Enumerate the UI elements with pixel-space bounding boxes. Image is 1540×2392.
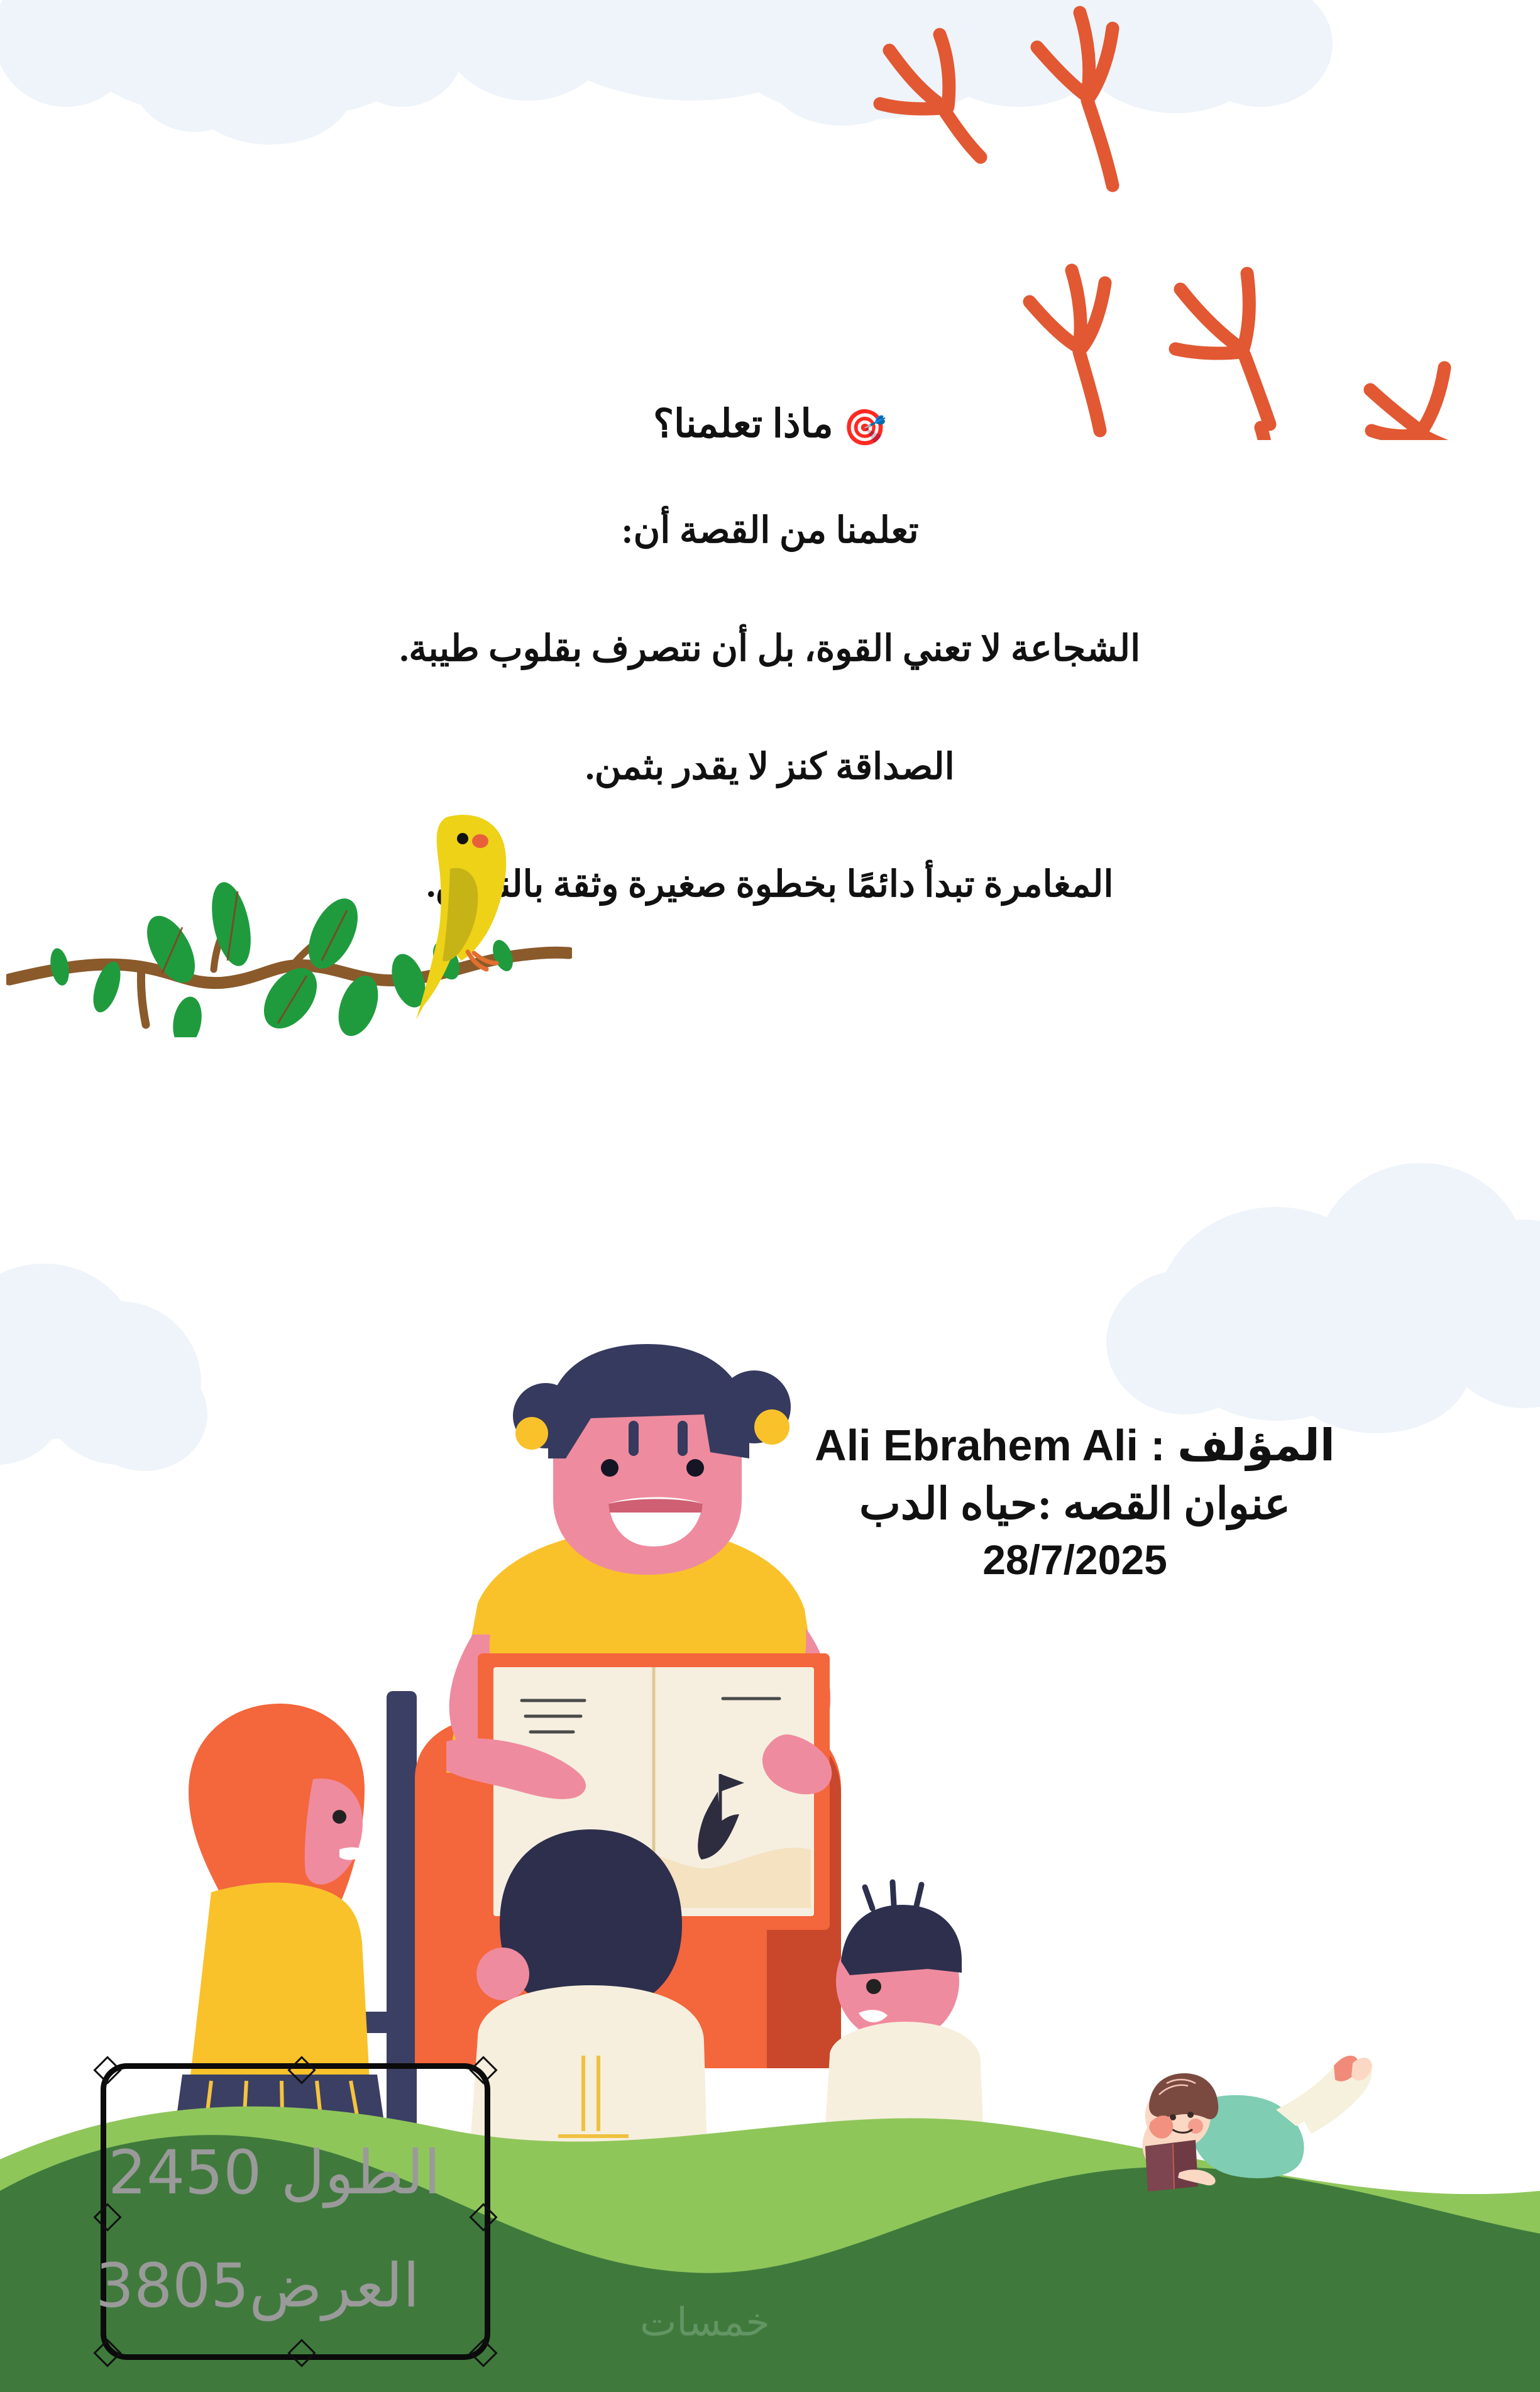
page-heading-text: ماذا تعلمنا؟ [653,403,833,446]
crop-length-value: 2450 [108,2137,261,2208]
crop-length-label: الطول [281,2137,441,2208]
crop-width-value: 3805 [96,2251,249,2321]
lesson-item-2: الصداقة كنز لا يقدر بثمن. [0,745,1540,789]
cloud-top-left [0,0,478,151]
lesson-item-1: الشجاعة لا تعني القوة، بل أن نتصرف بقلوب… [0,627,1540,671]
crop-width-label: العرض [249,2251,419,2321]
target-icon: 🎯 [843,407,887,448]
branch-with-canary [6,798,572,1037]
lesson-lead-text: تعلمنا من القصة أن: [0,509,1540,553]
watermark-khamsat: خمسات [640,2299,770,2345]
flying-birds-flock [849,0,1540,440]
page-heading: 🎯 ماذا تعلمنا؟ [0,402,1540,448]
crop-length-readout: الطول 2450 [108,2137,441,2208]
cloud-mid-right [1106,1182,1540,1446]
child-reading-on-grass [1113,2056,1377,2232]
canary-bird [416,815,506,1020]
crop-width-readout: العرض3805 [96,2251,420,2321]
poster-page: 🎯 ماذا تعلمنا؟ تعلمنا من القصة أن: الشجا… [0,0,1540,2392]
